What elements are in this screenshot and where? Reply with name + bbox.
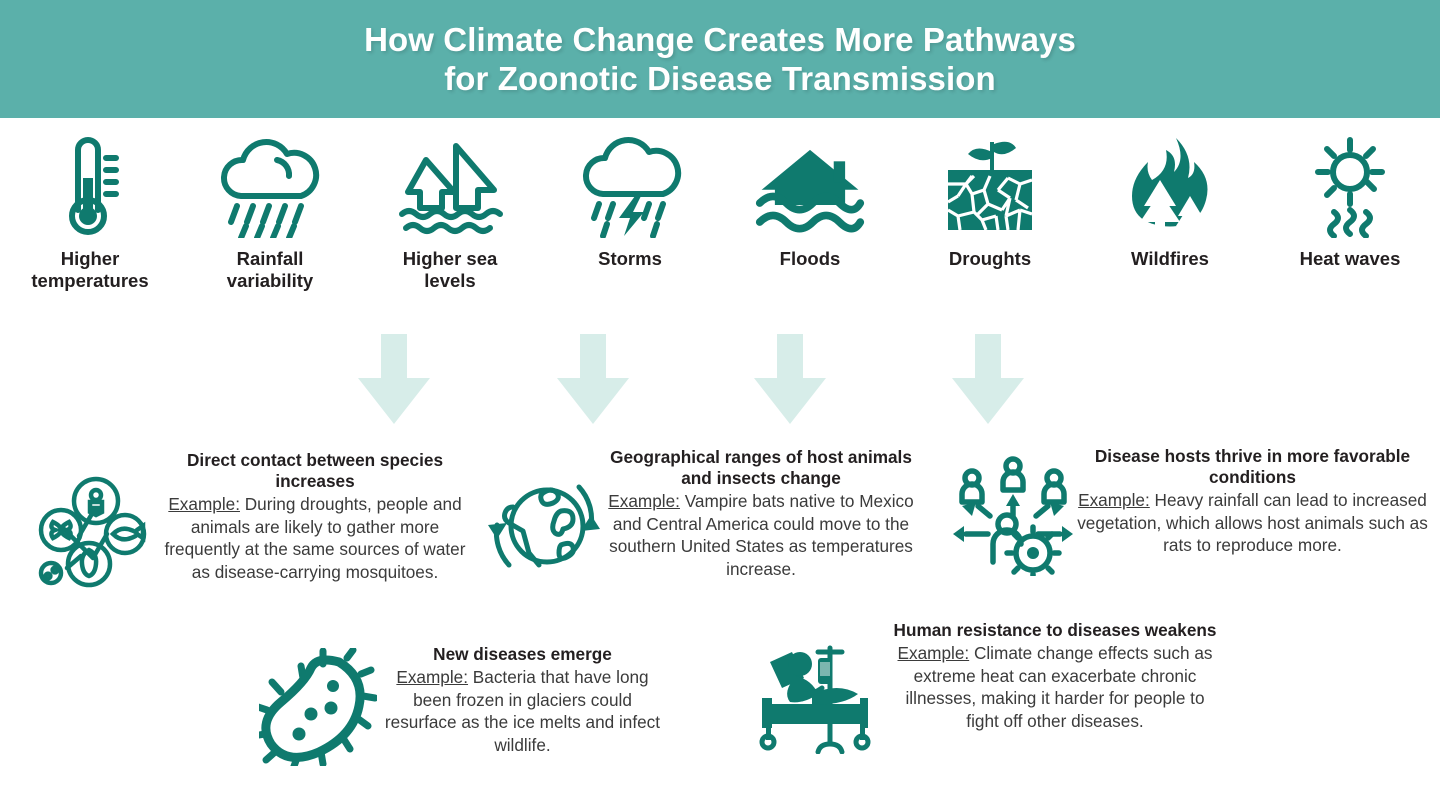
outcome-body: Example: Bacteria that have long been fr… (380, 666, 665, 756)
globe-cycle-icon (486, 469, 606, 587)
outcome-title: Direct contact between species increases (160, 450, 470, 492)
outcome-card-disease-hosts: Disease hosts thrive in more favorable c… (950, 446, 1430, 576)
cracked-soil-sprout-icon (934, 130, 1046, 242)
outcome-body: Example: Climate change effects such as … (890, 642, 1220, 732)
outcome-title: Geographical ranges of host animals and … (606, 447, 916, 489)
driver-higher-temperatures: Higher temperatures (0, 130, 180, 305)
example-label: Example: (898, 643, 970, 663)
species-network-icon (30, 472, 160, 597)
outcome-card-new-diseases: New diseases emerge Example: Bacteria th… (255, 644, 665, 766)
driver-rainfall-variability: Rainfall variability (180, 130, 360, 305)
outcome-text: New diseases emerge Example: Bacteria th… (380, 644, 665, 756)
outcome-card-geographical-ranges: Geographical ranges of host animals and … (486, 447, 916, 587)
outcome-text: Direct contact between species increases… (160, 450, 470, 583)
storm-cloud-lightning-icon (574, 130, 686, 242)
outcome-text: Geographical ranges of host animals and … (606, 447, 916, 580)
people-spread-virus-icon (950, 454, 1075, 576)
down-arrow-4 (946, 332, 1030, 430)
page-title-line-1: How Climate Change Creates More Pathways (364, 20, 1076, 59)
driver-label: Higher temperatures (31, 248, 148, 292)
flooded-house-icon (754, 130, 866, 242)
driver-label: Floods (780, 248, 841, 270)
outcome-text: Disease hosts thrive in more favorable c… (1075, 446, 1430, 557)
driver-droughts: Droughts (900, 130, 1080, 305)
outcome-card-direct-contact: Direct contact between species increases… (30, 450, 470, 597)
wildfire-flame-trees-icon (1114, 130, 1226, 242)
driver-storms: Storms (540, 130, 720, 305)
driver-floods: Floods (720, 130, 900, 305)
outcome-text: Human resistance to diseases weakens Exa… (890, 620, 1220, 732)
driver-higher-sea-levels: Higher sea levels (360, 130, 540, 305)
outcome-title: New diseases emerge (380, 644, 665, 665)
sea-level-rise-icon (394, 130, 506, 242)
rain-cloud-icon (214, 130, 326, 242)
outcome-body: Example: During droughts, people and ani… (160, 493, 470, 583)
outcome-title: Disease hosts thrive in more favorable c… (1075, 446, 1430, 488)
page-title-line-2: for Zoonotic Disease Transmission (444, 59, 996, 98)
driver-label: Higher sea levels (403, 248, 498, 292)
driver-heat-waves: Heat waves (1260, 130, 1440, 305)
driver-label: Wildfires (1131, 248, 1209, 270)
sun-heat-waves-icon (1294, 130, 1406, 242)
page-header: How Climate Change Creates More Pathways… (0, 0, 1440, 118)
example-label: Example: (168, 494, 240, 514)
example-label: Example: (608, 491, 680, 511)
down-arrow-1 (352, 332, 436, 430)
example-label: Example: (396, 667, 468, 687)
thermometer-icon (34, 130, 146, 242)
outcome-body: Example: Heavy rainfall can lead to incr… (1075, 489, 1430, 557)
outcome-card-human-resistance: Human resistance to diseases weakens Exa… (750, 620, 1220, 754)
bacteria-icon (255, 648, 380, 766)
outcome-body: Example: Vampire bats native to Mexico a… (606, 490, 916, 580)
down-arrow-3 (748, 332, 832, 430)
driver-label: Droughts (949, 248, 1031, 270)
climate-drivers-row: Higher temperatures Rainfall variability (0, 130, 1440, 305)
down-arrow-2 (551, 332, 635, 430)
driver-label: Rainfall variability (227, 248, 313, 292)
example-label: Example: (1078, 490, 1150, 510)
hospital-bed-patient-icon (750, 642, 890, 754)
arrows-row (0, 332, 1440, 434)
driver-label: Heat waves (1300, 248, 1401, 270)
outcome-title: Human resistance to diseases weakens (890, 620, 1220, 641)
driver-wildfires: Wildfires (1080, 130, 1260, 305)
driver-label: Storms (598, 248, 662, 270)
